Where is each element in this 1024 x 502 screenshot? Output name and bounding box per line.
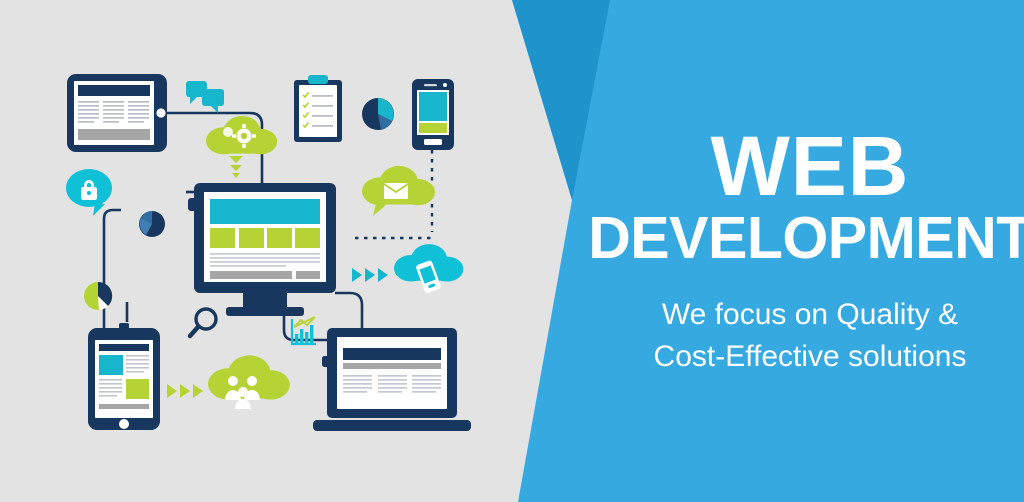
magnifier-icon: [190, 309, 216, 336]
web-development-banner: WEB DEVELOPMENT We focus on Quality & Co…: [0, 0, 1024, 502]
illustration: [0, 0, 560, 502]
subheadline-line-2: Cost-Effective solutions: [654, 336, 967, 377]
pie-chart-small-icon: [139, 211, 165, 237]
clipboard-checklist-icon: [294, 75, 342, 142]
arrows-cyan-icon: [352, 268, 388, 282]
arrows-green-icon: [167, 384, 203, 398]
text-panel: WEB DEVELOPMENT We focus on Quality & Co…: [596, 0, 1024, 502]
lock-bubble-icon: [66, 169, 112, 216]
headline-line-2: DEVELOPMENT: [588, 209, 1024, 268]
desktop-monitor-device: [188, 183, 336, 316]
headline-line-1: WEB: [711, 125, 910, 207]
cloud-gear-icon: [206, 116, 277, 178]
tablet-landscape-device: [67, 74, 167, 152]
subheadline-line-1: We focus on Quality &: [662, 294, 958, 335]
email-cloud-icon: [362, 166, 435, 216]
cloud-mobile-icon: [394, 244, 463, 294]
laptop-device: [313, 328, 471, 431]
pie-chart-green-icon: [84, 282, 112, 310]
tablet-portrait-device: [88, 323, 160, 430]
cloud-people-icon: [208, 355, 290, 409]
smartphone-device: [412, 79, 454, 150]
chat-bubbles-icon: [186, 81, 224, 113]
pie-chart-icon: [362, 98, 394, 130]
